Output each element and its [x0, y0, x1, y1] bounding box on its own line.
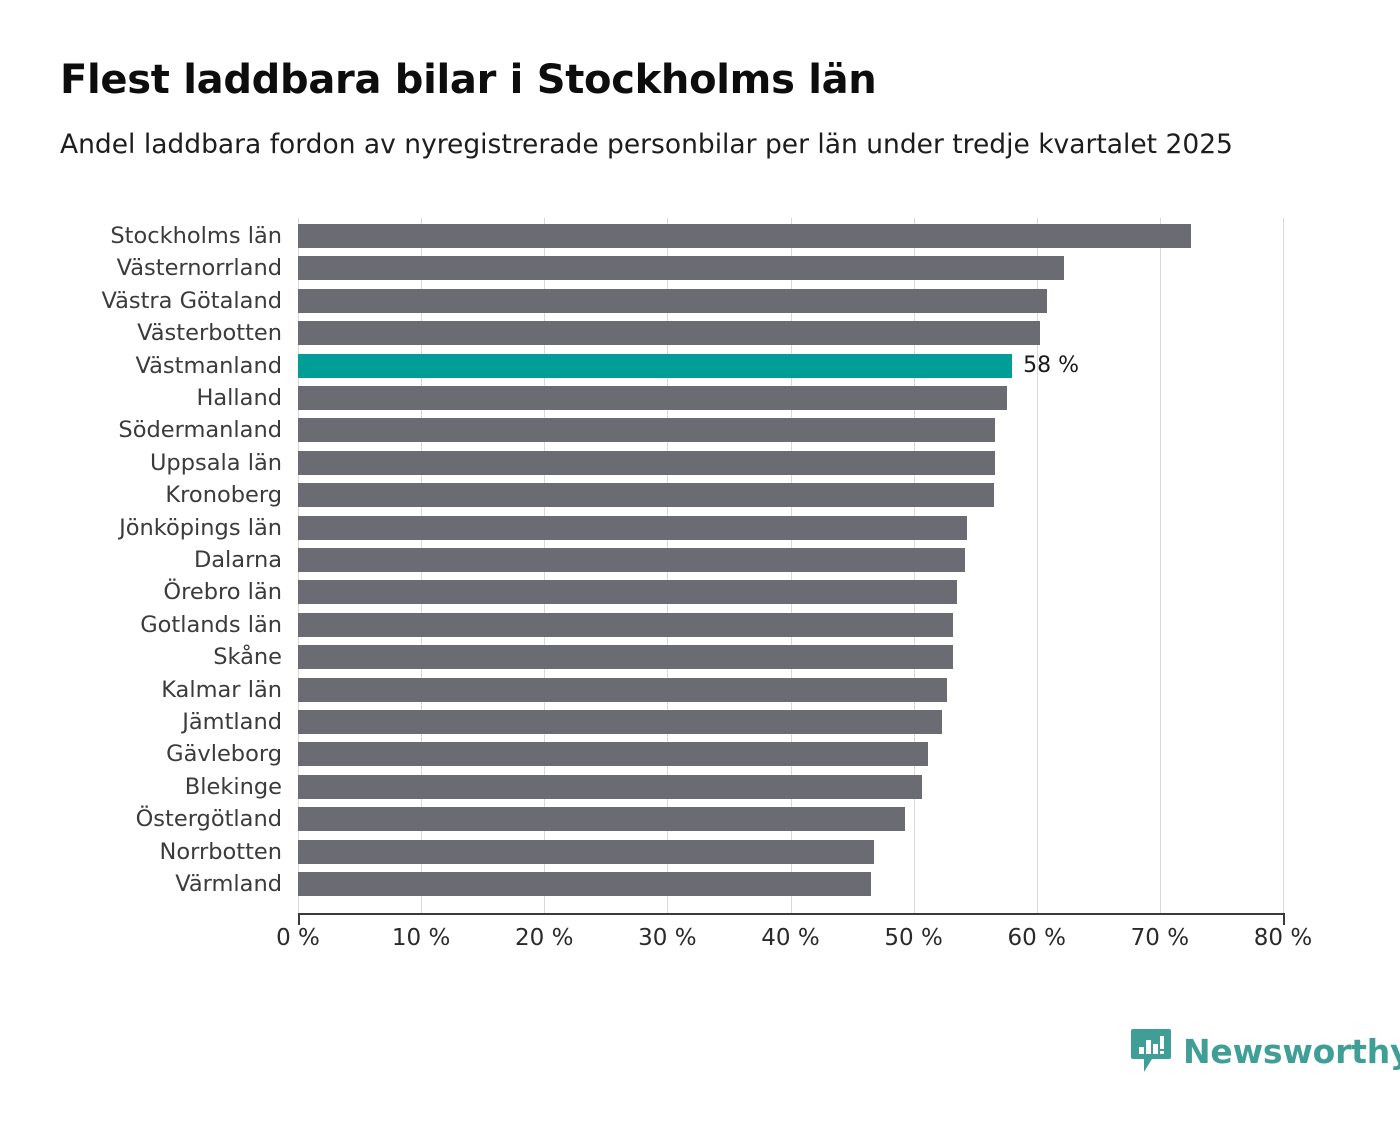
- x-tick-label: 40 %: [761, 925, 819, 951]
- x-tick-label: 50 %: [884, 925, 942, 951]
- chart-value-axis: 0 %10 %20 %30 %40 %50 %60 %70 %80 %: [0, 0, 1400, 1133]
- bar-chart-speech-bubble-icon: [1130, 1028, 1172, 1074]
- newsworthy-logo: Newsworthy: [1130, 1028, 1400, 1074]
- x-tick-label: 20 %: [515, 925, 573, 951]
- logo-wordmark: Newsworthy: [1183, 1035, 1400, 1068]
- x-tick-label: 80 %: [1254, 925, 1312, 951]
- x-axis-line: [298, 913, 1284, 915]
- axis-cap-start: [298, 913, 300, 925]
- x-tick-label: 0 %: [276, 925, 320, 951]
- x-tick-label: 10 %: [392, 925, 450, 951]
- x-tick-label: 30 %: [638, 925, 696, 951]
- chart-page: Flest laddbara bilar i Stockholms län An…: [0, 0, 1400, 1133]
- bar-chart: 58 % Stockholms länVästernorrlandVästra …: [0, 0, 1400, 1133]
- x-tick-label: 70 %: [1131, 925, 1189, 951]
- x-tick-label: 60 %: [1008, 925, 1066, 951]
- axis-cap-end: [1283, 913, 1285, 925]
